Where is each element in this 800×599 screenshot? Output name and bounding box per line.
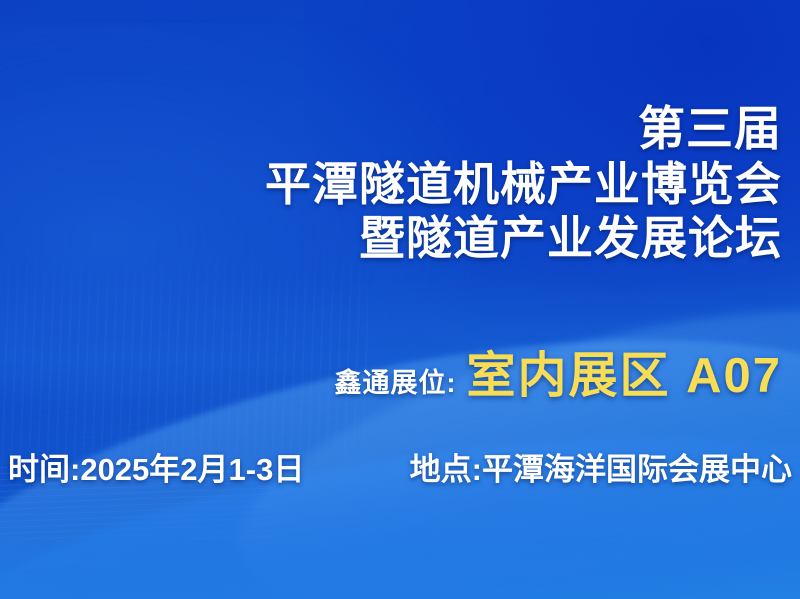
- event-venue: 地点:平潭海洋国际会展中心: [410, 444, 792, 489]
- event-title: 第三届 平潭隧道机械产业博览会 暨隧道产业发展论坛: [265, 104, 782, 262]
- event-details: 时间:2025年2月1-3日 地点:平潭海洋国际会展中心: [8, 444, 792, 489]
- title-line-expo: 平潭隧道机械产业博览会: [265, 160, 782, 209]
- booth-label: 鑫通展位:: [334, 361, 456, 400]
- banner-content: 第三届 平潭隧道机械产业博览会 暨隧道产业发展论坛 鑫通展位: 室内展区 A07…: [0, 0, 800, 599]
- booth-number: 室内展区 A07: [466, 336, 782, 407]
- booth-info: 鑫通展位: 室内展区 A07: [334, 336, 782, 407]
- title-line-edition: 第三届: [265, 104, 782, 154]
- exhibition-banner: 第三届 平潭隧道机械产业博览会 暨隧道产业发展论坛 鑫通展位: 室内展区 A07…: [0, 0, 800, 599]
- event-date: 时间:2025年2月1-3日: [8, 444, 304, 489]
- title-line-forum: 暨隧道产业发展论坛: [265, 214, 782, 263]
